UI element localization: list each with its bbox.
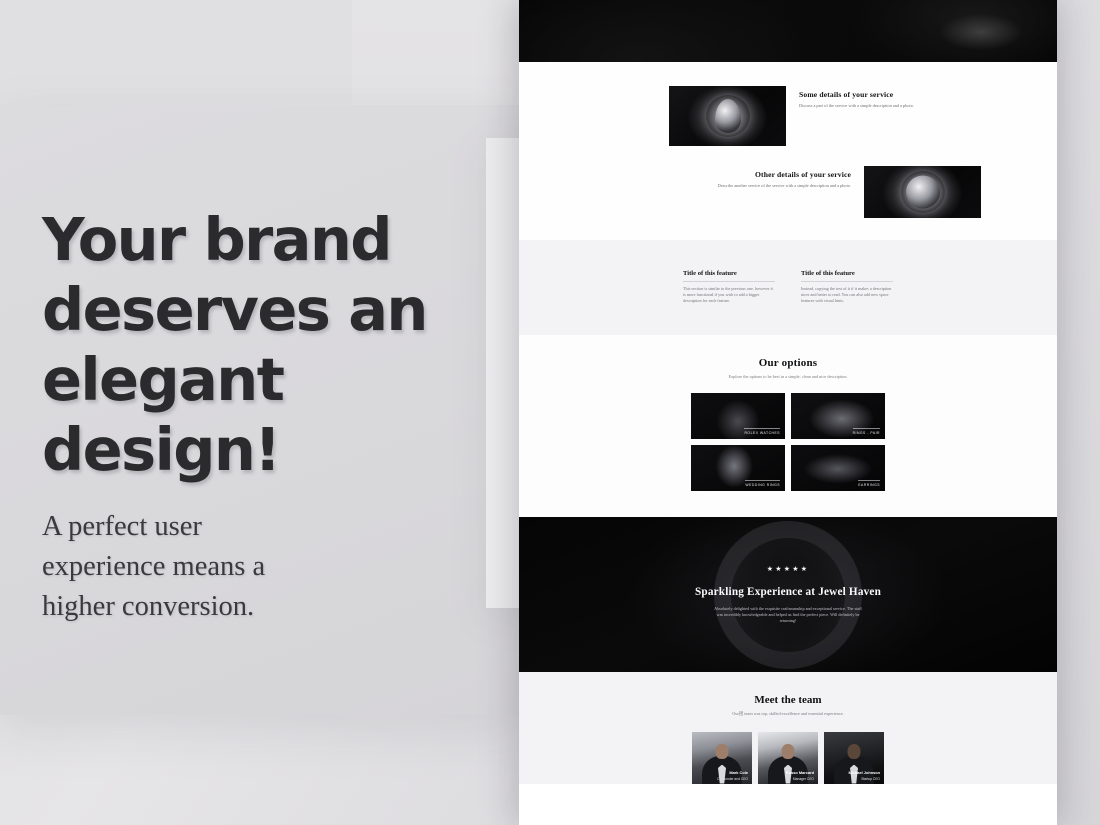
promo-subheadline: A perfect user experience means a higher…	[42, 507, 462, 627]
service-body: Describe another service of the service …	[701, 183, 851, 190]
mockup-options-section: Our options Explore the options to be be…	[519, 335, 1057, 517]
mockup-team-section: Meet the team Our团 team was top, skilled…	[519, 672, 1057, 783]
team-subheading: Our团 team was top, skilled excellence an…	[712, 711, 864, 717]
service-row: Some details of your service Discuss a p…	[519, 86, 1057, 146]
team-heading: Meet the team	[519, 694, 1057, 706]
feature-body: This section is similar to the previous …	[683, 286, 775, 305]
team-member-card[interactable]: Russo Marcard Manager CEO	[758, 732, 818, 784]
round-diamond-icon	[906, 176, 940, 209]
team-member-role: Startup CEO	[861, 777, 880, 781]
team-member-name: Russo Marcard	[786, 770, 814, 775]
avatar	[782, 744, 795, 759]
testimonial-body: Absolutely delighted with the exquisite …	[713, 606, 863, 625]
option-card[interactable]: WEDDING RINGS	[691, 445, 785, 491]
option-caption: WEDDING RINGS	[745, 483, 780, 487]
promo-copy: Your brand deserves an elegant design! A…	[42, 205, 462, 627]
mockup-testimonial-section: ★★★★★ Sparkling Experience at Jewel Have…	[519, 517, 1057, 672]
team-grid: Mark Cole Co-founder and CEO Russo Marca…	[519, 732, 1057, 784]
options-subheading: Explore the options to be best in a simp…	[713, 374, 863, 380]
option-caption: EARRINGS	[858, 483, 880, 487]
subheadline-line-3: higher conversion.	[42, 587, 462, 627]
feature-body: Instead, copying the text of it if it ma…	[801, 286, 893, 305]
service-text-block: Some details of your service Discuss a p…	[799, 86, 949, 110]
team-member-role: Co-founder and CEO	[717, 777, 748, 781]
option-card[interactable]: ROLEX WATCHES	[691, 393, 785, 439]
pear-diamond-icon	[715, 99, 741, 133]
testimonial-heading: Sparkling Experience at Jewel Haven	[695, 586, 881, 598]
team-member-name: Mark Cole	[729, 770, 748, 775]
team-member-role: Manager CEO	[793, 777, 814, 781]
service-text-block: Other details of your service Describe a…	[701, 166, 851, 190]
team-member-card[interactable]: Mark Cole Co-founder and CEO	[692, 732, 752, 784]
service-title: Some details of your service	[799, 90, 949, 99]
feature-column: Title of this feature This section is si…	[683, 270, 775, 305]
hero-highlight	[921, 6, 1041, 58]
team-member-card[interactable]: Michael Johnson Startup CEO	[824, 732, 884, 784]
options-grid: ROLEX WATCHES RINGS - PAIR WEDDING RINGS…	[691, 393, 885, 491]
mockup-hero-section	[519, 0, 1057, 62]
feature-title: Title of this feature	[683, 270, 775, 282]
service-body: Discuss a part of the service with a sim…	[799, 103, 949, 110]
mockup-features-section: Title of this feature This section is si…	[519, 240, 1057, 335]
service-title: Other details of your service	[701, 170, 851, 179]
options-heading: Our options	[519, 357, 1057, 369]
headline-line-3: elegant	[42, 345, 462, 415]
option-caption: RINGS - PAIR	[853, 431, 880, 435]
headline-line-2: deserves an	[42, 275, 462, 345]
team-member-name: Michael Johnson	[848, 770, 880, 775]
option-caption: ROLEX WATCHES	[744, 431, 780, 435]
mockup-services-section: Some details of your service Discuss a p…	[519, 62, 1057, 240]
headline-line-4: design!	[42, 415, 462, 485]
rating-stars-icon: ★★★★★	[767, 565, 809, 573]
background-panel-top	[0, 0, 365, 105]
avatar	[848, 744, 861, 759]
headline-line-1: Your brand	[42, 205, 462, 275]
service-image-pear-ring	[669, 86, 786, 146]
website-mockup[interactable]: Some details of your service Discuss a p…	[519, 0, 1057, 825]
subheadline-line-2: experience means a	[42, 547, 462, 587]
avatar	[716, 744, 729, 759]
option-card[interactable]: EARRINGS	[791, 445, 885, 491]
feature-title: Title of this feature	[801, 270, 893, 282]
option-card[interactable]: RINGS - PAIR	[791, 393, 885, 439]
feature-column: Title of this feature Instead, copying t…	[801, 270, 893, 305]
promo-headline: Your brand deserves an elegant design!	[42, 205, 462, 485]
service-row: Other details of your service Describe a…	[519, 166, 1057, 218]
service-image-halo-ring	[864, 166, 981, 218]
subheadline-line-1: A perfect user	[42, 507, 462, 547]
